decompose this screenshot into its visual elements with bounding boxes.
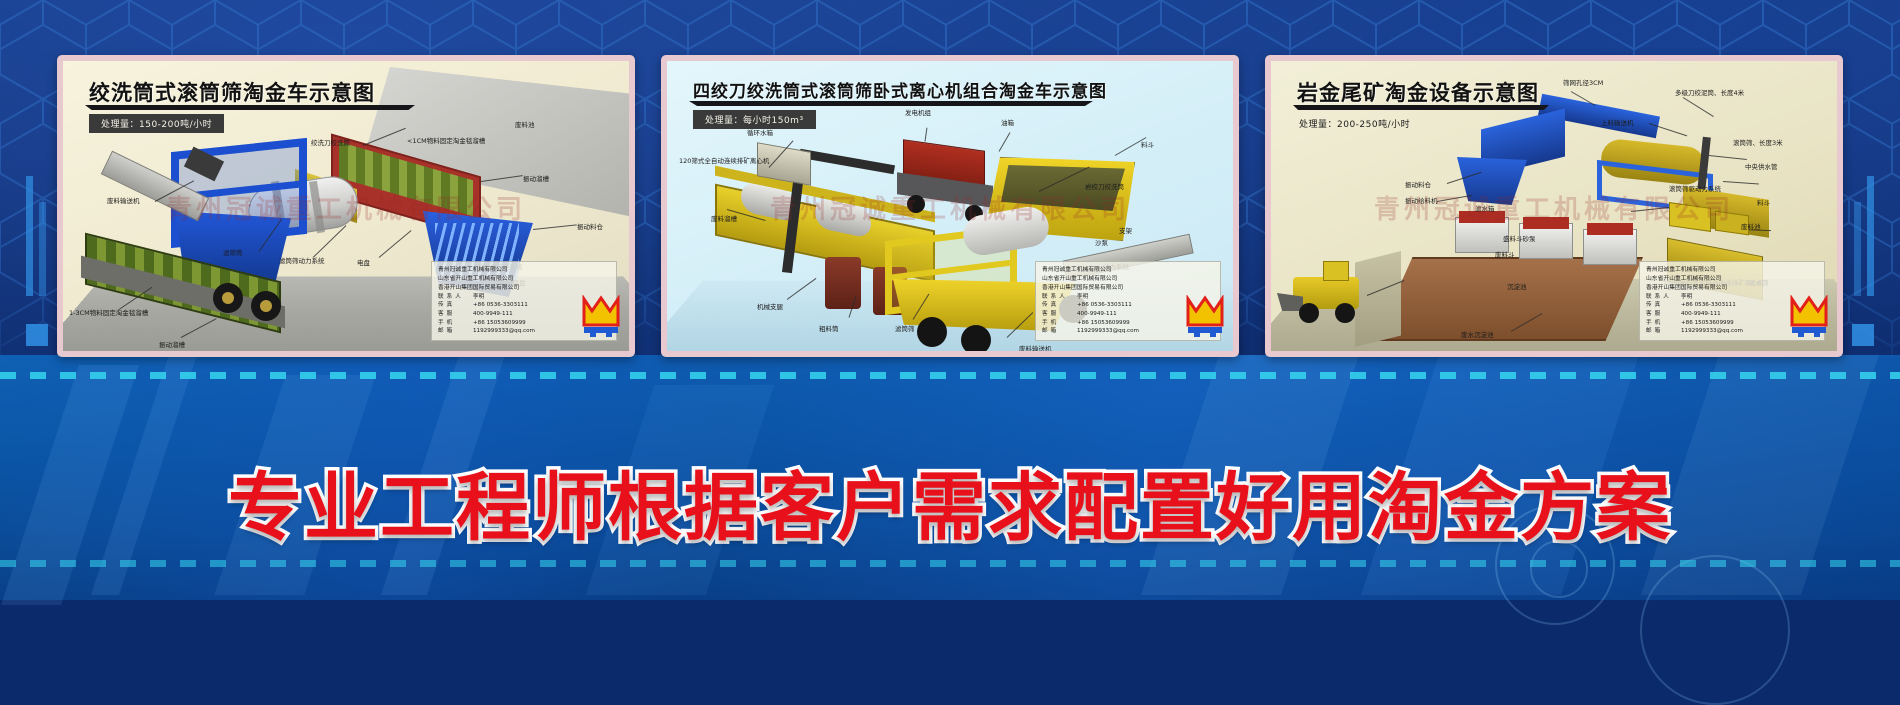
panel-title-underline bbox=[1293, 105, 1549, 110]
dashed-strip-upper bbox=[0, 372, 1900, 379]
water-pipe-branch bbox=[799, 149, 895, 175]
label-item: 上料输送机 bbox=[1601, 117, 1634, 127]
loader-wheel-2 bbox=[1335, 303, 1355, 323]
label-item: 滤筛筒 bbox=[223, 247, 243, 257]
contact-key: 联系人 bbox=[1042, 293, 1072, 302]
leader-line bbox=[925, 128, 928, 142]
contact-value: 1192999333@qq.com bbox=[1681, 327, 1743, 336]
panel-title-underline bbox=[85, 105, 415, 110]
leader-line bbox=[533, 224, 577, 230]
contact-value: +86 15053609999 bbox=[1077, 319, 1130, 328]
label-item: 盛料斗砂泵 bbox=[1503, 233, 1536, 243]
leader-line bbox=[379, 230, 412, 258]
label-item: 滤筒筛 bbox=[895, 323, 915, 333]
truck-wheel-2 bbox=[961, 325, 991, 355]
panel-capacity-badge: 处理量：200-250吨/小时 bbox=[1297, 114, 1422, 133]
label-item: 废料池 bbox=[1741, 221, 1761, 231]
company-name: 山东省开山重工机械有限公司 bbox=[1042, 275, 1214, 284]
label-item: 筛网孔径3CM bbox=[1563, 77, 1603, 87]
contact-key: 联系人 bbox=[1646, 293, 1676, 302]
company-name: 青州冠诚重工机械有限公司 bbox=[438, 266, 610, 275]
centrifuge-cap-2 bbox=[1523, 217, 1569, 229]
settling-pond bbox=[1375, 257, 1643, 341]
label-item: 粗料筒 bbox=[819, 323, 839, 333]
diagram-panel-washing-drum-trommel[interactable]: 绞洗筒式滚筒筛淘金车示意图 处理量：150-200吨/小时 <1CM物料固定淘金… bbox=[57, 55, 635, 357]
contact-value: +86 0536-3303111 bbox=[473, 301, 528, 310]
label-item: 滚筒筛驱动力系统 bbox=[1669, 183, 1721, 193]
label-item: 滤筒筛动力系统 bbox=[279, 255, 325, 265]
label-item: 料斗 bbox=[1757, 197, 1770, 207]
company-logo-icon bbox=[581, 295, 621, 339]
contact-key: 客服 bbox=[1042, 310, 1072, 319]
leader-line bbox=[999, 132, 1011, 152]
wheel-loader-cab bbox=[1323, 261, 1349, 281]
label-item: <1CM物料固定淘金毯溜槽 bbox=[407, 135, 485, 145]
panel-title: 四绞刀绞洗筒式滚筒筛卧式离心机组合淘金车示意图 bbox=[693, 77, 1107, 102]
contact-value: 1192999333@qq.com bbox=[1077, 327, 1139, 336]
diagram-panel-row: 绞洗筒式滚筒筛淘金车示意图 处理量：150-200吨/小时 <1CM物料固定淘金… bbox=[0, 55, 1900, 365]
contact-value: 李明 bbox=[473, 293, 484, 302]
wheel-hub-1 bbox=[222, 292, 234, 304]
contact-key: 邮箱 bbox=[1042, 327, 1072, 336]
contact-key: 联系人 bbox=[438, 293, 468, 302]
contact-value: +86 0536-3303111 bbox=[1077, 301, 1132, 310]
label-item: 120筛式全自动连续排矿离心机 bbox=[679, 155, 769, 165]
loader-wheel-1 bbox=[1299, 303, 1319, 323]
contact-key: 传真 bbox=[438, 301, 468, 310]
side-machine-a bbox=[1669, 202, 1711, 232]
pond-wall-left bbox=[1355, 251, 1401, 347]
truck-wheel-1 bbox=[917, 317, 947, 347]
company-name: 山东省开山重工机械有限公司 bbox=[438, 275, 610, 284]
fuel-tank-a bbox=[825, 257, 861, 309]
panel-title: 岩金尾矿淘金设备示意图 bbox=[1297, 77, 1539, 107]
panel-title: 绞洗筒式滚筒筛淘金车示意图 bbox=[89, 77, 375, 107]
label-item: 沙泵 bbox=[1095, 237, 1108, 247]
contact-value: +86 15053609999 bbox=[1681, 319, 1734, 328]
company-logo-icon bbox=[1789, 295, 1829, 339]
feed-hopper-blue bbox=[1457, 157, 1527, 205]
generator-wheel-1 bbox=[907, 195, 925, 213]
label-item: 振动溜槽 bbox=[159, 339, 185, 349]
diagram-panel-rock-gold-tailings[interactable]: 岩金尾矿淘金设备示意图 处理量：200-250吨/小时 筛网孔径3CM 多级刀绞… bbox=[1265, 55, 1843, 357]
contact-key: 邮箱 bbox=[1646, 327, 1676, 336]
label-item: 电盘 bbox=[357, 257, 370, 267]
label-item: 沉淀池 bbox=[1507, 281, 1527, 291]
contact-key: 客服 bbox=[1646, 310, 1676, 319]
leader-line bbox=[1631, 207, 1671, 212]
label-item: 废料输送机 bbox=[107, 195, 140, 205]
label-item: 废料斗 bbox=[1495, 249, 1515, 259]
label-item: 振动溜槽 bbox=[523, 173, 549, 183]
contact-key: 手机 bbox=[1646, 319, 1676, 328]
label-item: 振动料仓 bbox=[1405, 179, 1431, 189]
contact-value: 1192999333@qq.com bbox=[473, 327, 535, 336]
contact-key: 手机 bbox=[1042, 319, 1072, 328]
label-item: 废水沉淀池 bbox=[1461, 329, 1494, 339]
label-item: 废料溜槽 bbox=[711, 213, 737, 223]
contact-value: 400-9949-111 bbox=[1681, 310, 1721, 319]
label-item: 中央供水管 bbox=[1745, 161, 1778, 171]
contact-key: 邮箱 bbox=[438, 327, 468, 336]
label-item: 1-3CM物料固定淘金毯溜槽 bbox=[69, 307, 148, 317]
label-item: 机械支腿 bbox=[757, 301, 783, 311]
diagram-panel-four-cutter-centrifuge[interactable]: 四绞刀绞洗筒式滚筒筛卧式离心机组合淘金车示意图 处理量：每小时150m³ 循环水… bbox=[661, 55, 1239, 357]
contact-value: +86 0536-3303111 bbox=[1681, 301, 1736, 310]
company-name: 山东省开山重工机械有限公司 bbox=[1646, 275, 1818, 284]
label-item: 滤水箱 bbox=[1475, 203, 1495, 213]
label-item: 废料输送机 bbox=[1019, 343, 1052, 353]
label-item: 多级刀绞泥筒、长度4米 bbox=[1675, 87, 1744, 97]
label-item: 发电机组 bbox=[905, 107, 931, 117]
contact-key: 传真 bbox=[1646, 301, 1676, 310]
label-item: 支架 bbox=[1119, 225, 1132, 235]
company-name: 香港开山集团国际贸易有限公司 bbox=[1042, 284, 1214, 293]
main-headline: 专业工程师根据客户需求配置好用淘金方案 bbox=[0, 448, 1900, 555]
leader-line bbox=[1709, 155, 1747, 160]
label-item: 岩绞刀绞洗筒 bbox=[1085, 181, 1124, 191]
panel-title-underline bbox=[689, 101, 1093, 106]
centrifuge-cap-3 bbox=[1587, 223, 1633, 235]
company-logo-icon bbox=[1185, 295, 1225, 339]
contact-value: 李明 bbox=[1077, 293, 1088, 302]
contact-value: 400-9949-111 bbox=[1077, 310, 1117, 319]
leader-line bbox=[1683, 97, 1714, 117]
label-item: 绞洗刀绞洗筒 bbox=[311, 137, 350, 147]
company-name: 青州冠诚重工机械有限公司 bbox=[1042, 266, 1214, 275]
contact-key: 手机 bbox=[438, 319, 468, 328]
label-item: 料斗 bbox=[1141, 139, 1154, 149]
contact-key: 传真 bbox=[1042, 301, 1072, 310]
contact-value: 400-9949-111 bbox=[473, 310, 513, 319]
company-name: 香港开山集团国际贸易有限公司 bbox=[1646, 284, 1818, 293]
label-item: 循环水箱 bbox=[747, 127, 773, 137]
wheel-hub-2 bbox=[260, 300, 272, 312]
leader-line bbox=[1437, 195, 1473, 202]
label-item: 滚筒筛、长度3米 bbox=[1733, 137, 1783, 147]
leader-line bbox=[1723, 181, 1759, 185]
contact-value: 李明 bbox=[1681, 293, 1692, 302]
dashed-strip-lower bbox=[0, 560, 1900, 567]
company-name: 青州冠诚重工机械有限公司 bbox=[1646, 266, 1818, 275]
contact-key: 客服 bbox=[438, 310, 468, 319]
label-item: 振动给料机 bbox=[1405, 195, 1438, 205]
label-item: 振动料仓 bbox=[577, 221, 603, 231]
panel-capacity-badge: 处理量：150-200吨/小时 bbox=[89, 114, 224, 133]
company-name: 香港开山集团国际贸易有限公司 bbox=[438, 284, 610, 293]
label-item: 油箱 bbox=[1001, 117, 1014, 127]
contact-value: +86 15053609999 bbox=[473, 319, 526, 328]
label-item: 废料池 bbox=[515, 119, 535, 129]
